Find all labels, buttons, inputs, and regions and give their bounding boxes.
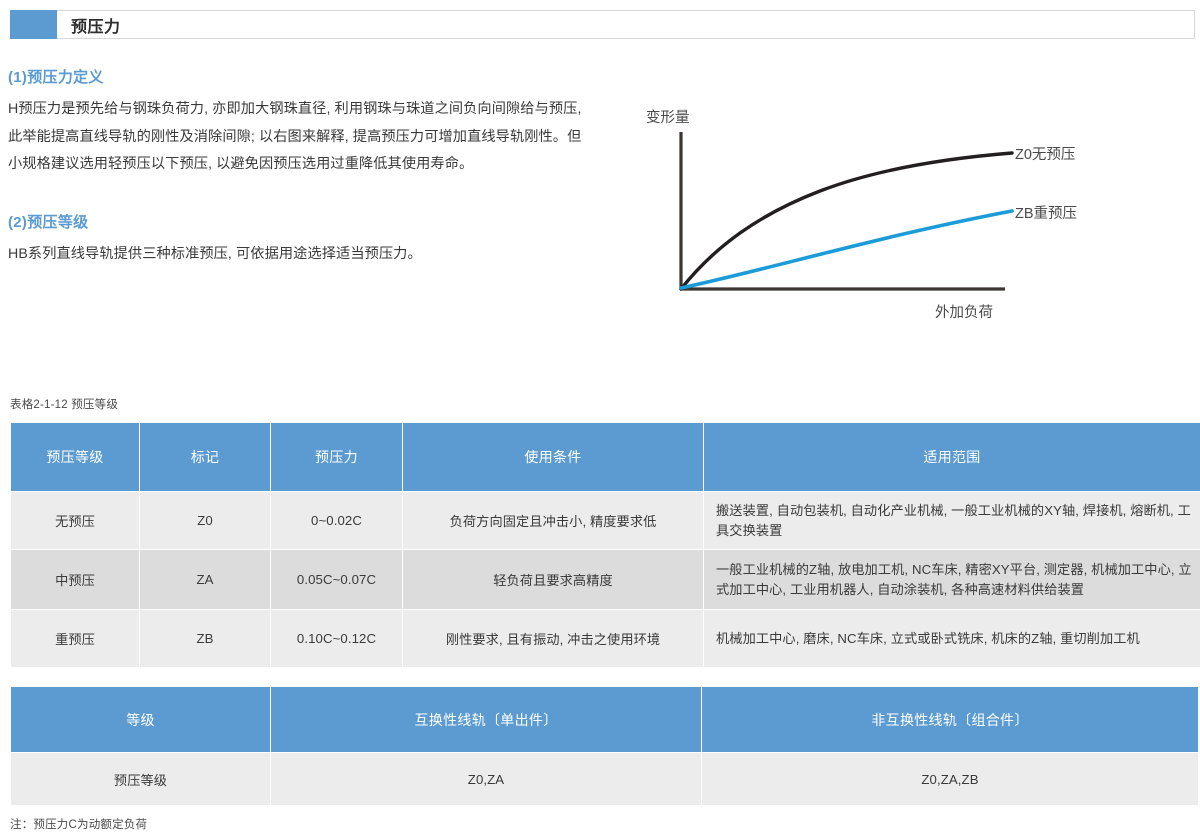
col-header-grade: 预压等级 xyxy=(11,423,139,491)
cell-non-interchangeable: Z0,ZA,ZB xyxy=(702,753,1198,805)
cell-grade: 无预压 xyxy=(11,492,139,549)
table-row: 预压等级 Z0,ZA Z0,ZA,ZB xyxy=(11,753,1198,805)
cell-application: 搬送装置, 自动包装机, 自动化产业机械, 一般工业机械的XY轴, 焊接机, 熔… xyxy=(704,492,1200,549)
chart-y-axis-label: 变形量 xyxy=(646,106,690,127)
section-heading-grades: (2)预压等级 xyxy=(8,211,588,232)
chart-x-axis-label: 外加负荷 xyxy=(935,301,993,322)
page-header: 预压力 xyxy=(10,10,1195,39)
cell-grade: 重预压 xyxy=(11,610,139,667)
table-preload-grades: 预压等级 标记 预压力 使用条件 适用范围 无预压 Z0 0~0.02C 负荷方… xyxy=(10,422,1200,668)
table-header-row: 预压等级 标记 预压力 使用条件 适用范围 xyxy=(11,423,1200,491)
section-body-definition: H预压力是预先给与钢珠负荷力, 亦即加大钢珠直径, 利用钢珠与珠道之间负向间隙给… xyxy=(8,96,588,179)
cell-grade: 中预压 xyxy=(11,550,139,609)
page-title: 预压力 xyxy=(71,13,121,37)
table-row: 无预压 Z0 0~0.02C 负荷方向固定且冲击小, 精度要求低 搬送装置, 自… xyxy=(11,492,1200,549)
col-header-condition: 使用条件 xyxy=(403,423,703,491)
cell-interchangeable: Z0,ZA xyxy=(271,753,701,805)
table-row: 重预压 ZB 0.10C~0.12C 刚性要求, 且有振动, 冲击之使用环境 机… xyxy=(11,610,1200,667)
table-header-row: 等级 互换性线轨〔单出件〕 非互换性线轨〔组合件〕 xyxy=(11,687,1198,752)
cell-force: 0~0.02C xyxy=(271,492,402,549)
col-header-mark: 标记 xyxy=(140,423,270,491)
cell-force: 0.05C~0.07C xyxy=(271,550,402,609)
col-header-level: 等级 xyxy=(11,687,270,752)
table-rail-types: 等级 互换性线轨〔单出件〕 非互换性线轨〔组合件〕 预压等级 Z0,ZA Z0,… xyxy=(10,686,1199,806)
cell-application: 一般工业机械的Z轴, 放电加工机, NC车床, 精密XY平台, 测定器, 机械加… xyxy=(704,550,1200,609)
cell-force: 0.10C~0.12C xyxy=(271,610,402,667)
col-header-application: 适用范围 xyxy=(704,423,1200,491)
table-caption-preload-grades: 表格2-1-12 预压等级 xyxy=(10,396,118,412)
series-curve-zb xyxy=(681,211,1012,288)
cell-condition: 轻负荷且要求高精度 xyxy=(403,550,703,609)
cell-application: 机械加工中心, 磨床, NC车床, 立式或卧式铣床, 机床的Z轴, 重切削加工机 xyxy=(704,610,1200,667)
table-footnote: 注：预压力C为动额定负荷 xyxy=(10,816,147,832)
col-header-non-interchangeable: 非互换性线轨〔组合件〕 xyxy=(702,687,1198,752)
cell-level: 预压等级 xyxy=(11,753,270,805)
col-header-force: 预压力 xyxy=(271,423,402,491)
cell-mark: ZB xyxy=(140,610,270,667)
chart-series-label-z0: Z0无预压 xyxy=(1015,143,1075,164)
header-accent-swatch xyxy=(10,10,57,39)
chart-canvas xyxy=(620,96,1180,336)
cell-mark: ZA xyxy=(140,550,270,609)
header-title-box: 预压力 xyxy=(57,10,1195,39)
table-row: 中预压 ZA 0.05C~0.07C 轻负荷且要求高精度 一般工业机械的Z轴, … xyxy=(11,550,1200,609)
chart-series-label-zb: ZB重预压 xyxy=(1015,202,1077,223)
section-heading-definition: (1)预压力定义 xyxy=(8,66,588,87)
content-left-column: (1)预压力定义 H预压力是预先给与钢珠负荷力, 亦即加大钢珠直径, 利用钢珠与… xyxy=(8,66,588,268)
cell-condition: 刚性要求, 且有振动, 冲击之使用环境 xyxy=(403,610,703,667)
section-body-grades: HB系列直线导轨提供三种标准预压, 可依据用途选择适当预压力。 xyxy=(8,241,588,269)
preload-deformation-chart: 变形量 外加负荷 Z0无预压 ZB重预压 xyxy=(620,96,1180,336)
col-header-interchangeable: 互换性线轨〔单出件〕 xyxy=(271,687,701,752)
cell-condition: 负荷方向固定且冲击小, 精度要求低 xyxy=(403,492,703,549)
cell-mark: Z0 xyxy=(140,492,270,549)
